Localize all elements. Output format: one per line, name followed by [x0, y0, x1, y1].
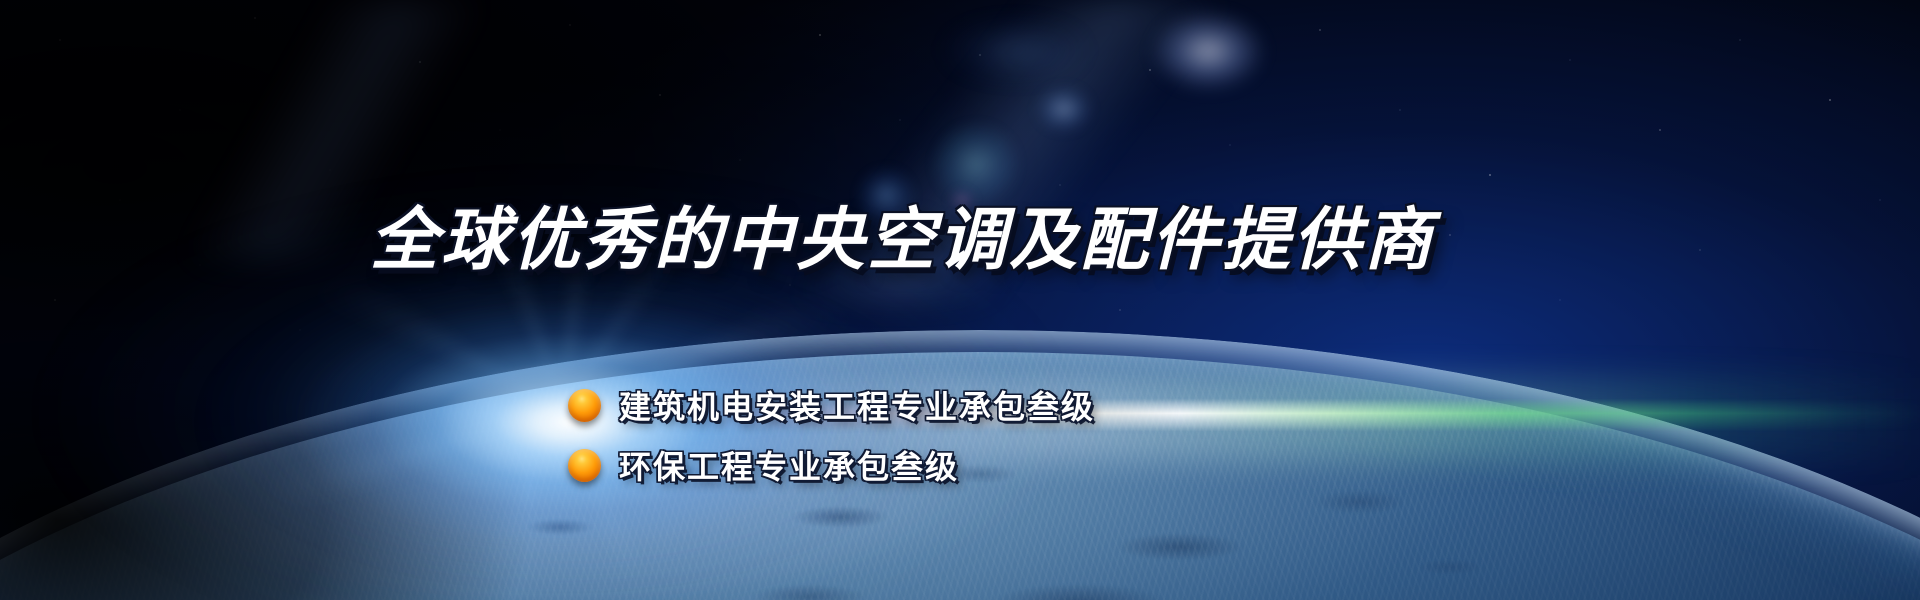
bullet-item-1-label: 建筑机电安装工程专业承包叁级	[619, 382, 1095, 428]
hero-banner: 全球优秀的中央空调及配件提供商 建筑机电安装工程专业承包叁级 环保工程专业承包叁…	[0, 0, 1920, 600]
bullet-item-1: 建筑机电安装工程专业承包叁级	[568, 382, 1095, 428]
orange-dot-icon	[568, 389, 601, 422]
orange-dot-icon	[568, 449, 601, 482]
banner-headline: 全球优秀的中央空调及配件提供商	[370, 205, 1550, 276]
banner-content: 全球优秀的中央空调及配件提供商 建筑机电安装工程专业承包叁级 环保工程专业承包叁…	[0, 0, 1920, 600]
bullet-item-2-label: 环保工程专业承包叁级	[619, 442, 959, 488]
bullet-item-2: 环保工程专业承包叁级	[568, 442, 1095, 488]
banner-bullet-list: 建筑机电安装工程专业承包叁级 环保工程专业承包叁级	[568, 382, 1095, 488]
